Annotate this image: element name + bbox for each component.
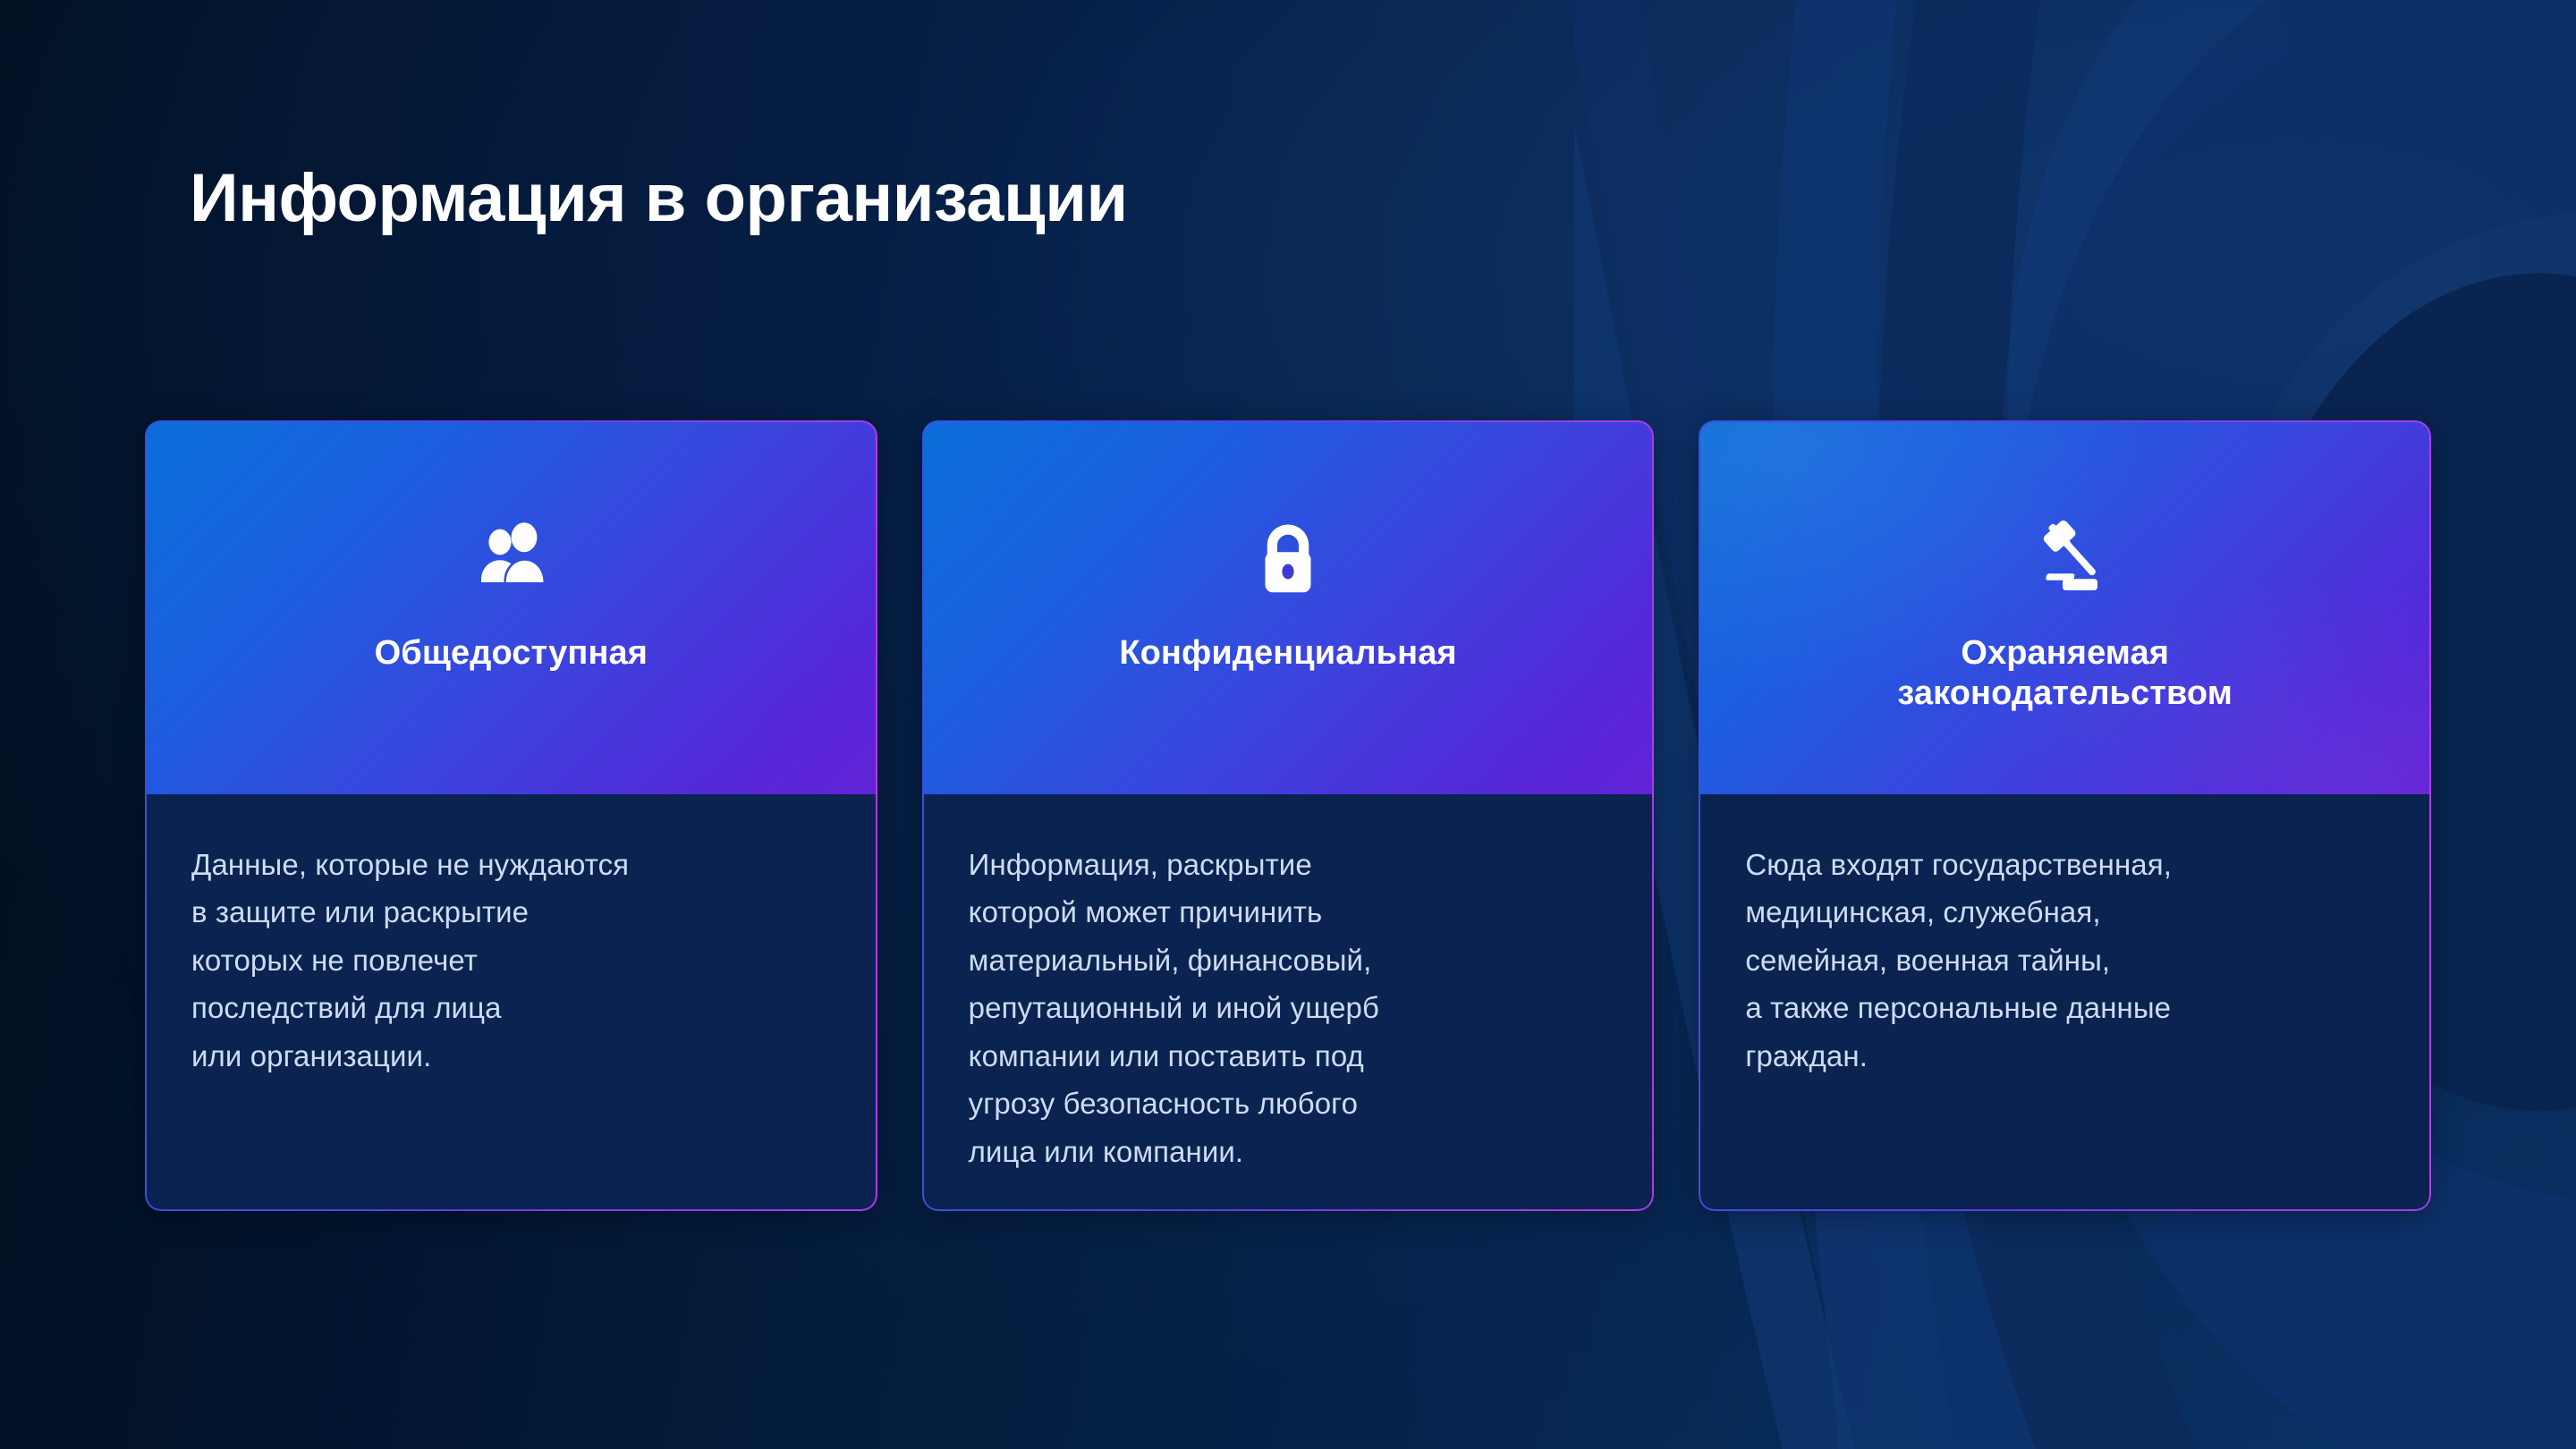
card-header: Конфиденциальная xyxy=(922,420,1655,794)
cards-row: Общедоступная Данные, которые не нуждают… xyxy=(145,420,2431,1211)
card-header: Общедоступная xyxy=(145,420,877,794)
card-body-text: Данные, которые не нуждаются в защите ил… xyxy=(191,841,836,1080)
lock-icon xyxy=(1245,515,1331,601)
card-body-text: Сюда входят государственная, медицинская… xyxy=(1745,841,2390,1080)
card-body: Информация, раскрытие которой может прич… xyxy=(922,794,1655,1211)
card-header: Охраняемая законодательством xyxy=(1699,420,2431,794)
card-title: Конфиденциальная xyxy=(1096,633,1479,674)
card-body: Данные, которые не нуждаются в защите ил… xyxy=(145,794,877,1190)
card-body: Сюда входят государственная, медицинская… xyxy=(1699,794,2431,1190)
card-title: Охраняемая законодательством xyxy=(1874,633,2256,714)
page-title: Информация в организации xyxy=(190,159,1128,237)
card-body-text: Информация, раскрытие которой может прич… xyxy=(969,841,1614,1175)
card-obschedostupnaya[interactable]: Общедоступная Данные, которые не нуждают… xyxy=(145,420,877,1211)
card-konfidentsialnaya[interactable]: Конфиденциальная Информация, раскрытие к… xyxy=(922,420,1655,1211)
slide-root: Информация в организации Общедоступная Д… xyxy=(0,0,2576,1449)
card-title: Общедоступная xyxy=(352,633,671,674)
gavel-icon xyxy=(2022,515,2108,601)
people-group-icon xyxy=(468,515,554,601)
card-ohranyaemaya-zakonodatelstvom[interactable]: Охраняемая законодательством Сюда входят… xyxy=(1699,420,2431,1211)
